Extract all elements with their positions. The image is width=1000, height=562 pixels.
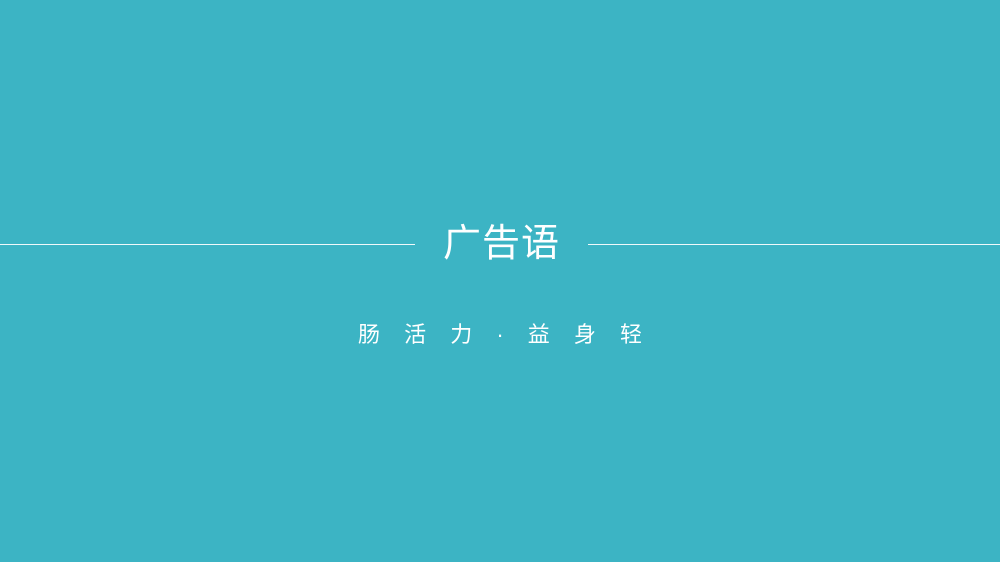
slide-canvas: 广告语 肠 活 力 · 益 身 轻 (0, 0, 1000, 562)
page-title: 广告语 (415, 225, 588, 263)
slogan-subtitle: 肠 活 力 · 益 身 轻 (0, 322, 1000, 348)
title-divider-group: 广告语 (0, 0, 1000, 525)
divider-line-right (588, 244, 1000, 245)
divider-line-left (0, 244, 415, 245)
